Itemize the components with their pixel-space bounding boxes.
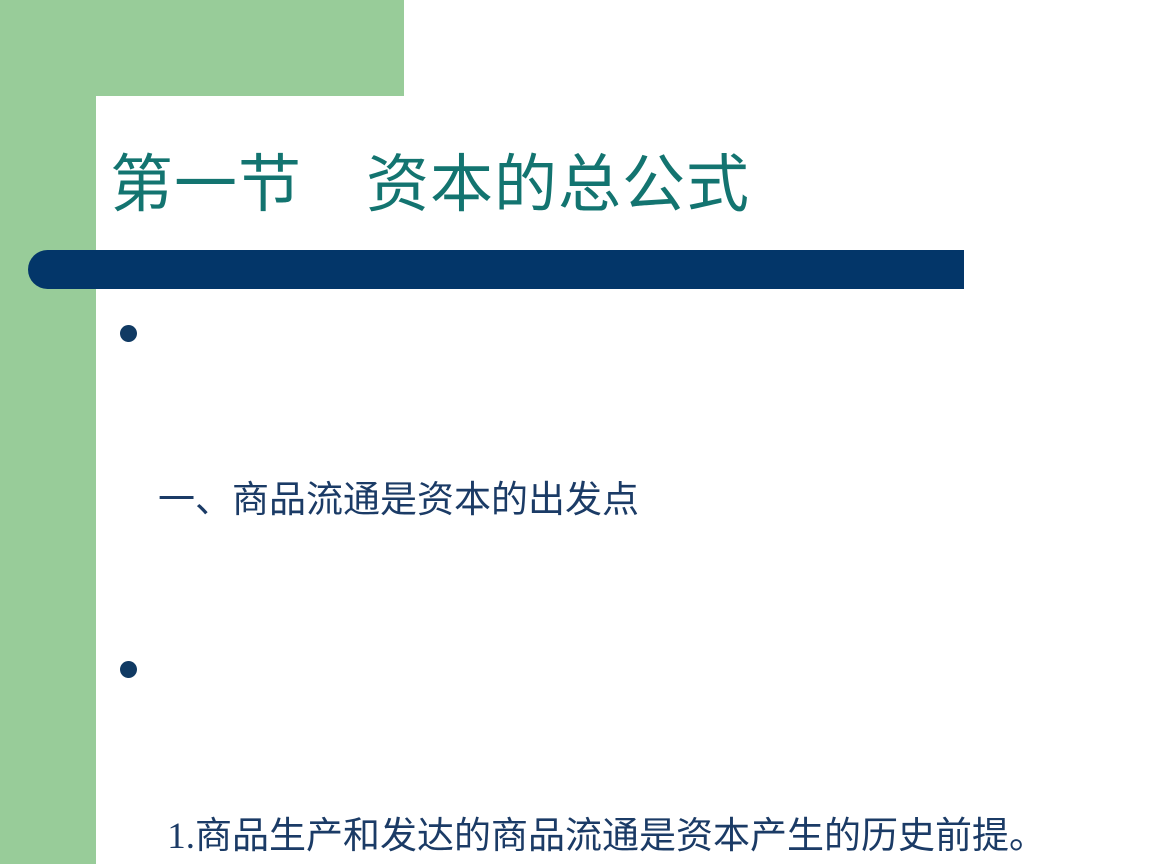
bullet-dot-icon xyxy=(120,325,137,342)
list-item-label: 1.商品生产和发达的商品流通是资本产生的历史前提。 xyxy=(158,809,1122,864)
list-item: 1.商品生产和发达的商品流通是资本产生的历史前提。 xyxy=(112,641,1122,864)
slide-title: 第一节 资本的总公式 xyxy=(110,135,1110,235)
presentation-slide: 第一节 资本的总公式 一、商品流通是资本的出发点 1.商品生产和发达的商品流通是… xyxy=(0,0,1152,864)
list-item: 一、商品流通是资本的出发点 xyxy=(112,305,1122,641)
bullet-dot-icon xyxy=(120,661,137,678)
list-item-label: 一、商品流通是资本的出发点 xyxy=(158,473,1122,529)
decorative-green-sidebar xyxy=(0,0,96,864)
slide-body-list: 一、商品流通是资本的出发点 1.商品生产和发达的商品流通是资本产生的历史前提。 … xyxy=(112,305,1122,864)
decorative-title-underline-bar xyxy=(28,250,964,289)
